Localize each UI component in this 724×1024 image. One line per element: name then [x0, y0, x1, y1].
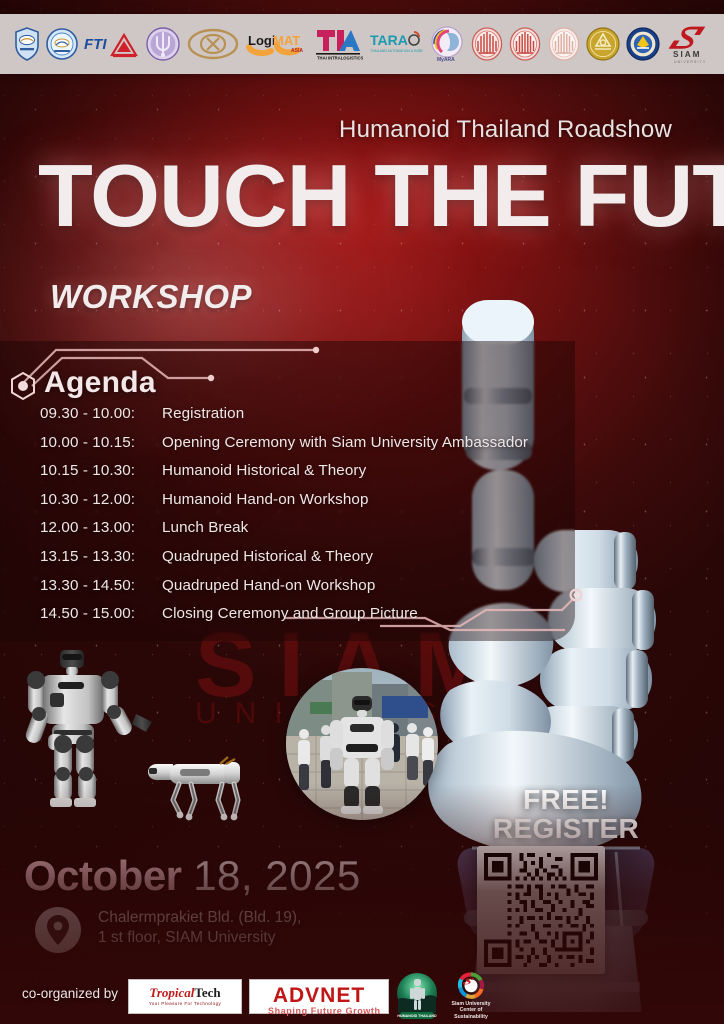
agenda-time: 10.30 - 12.00: [40, 491, 162, 508]
humanoid-thailand-caption: HUMANOID THAILAND [397, 1014, 437, 1018]
svg-text:THAILAND AUTOMATION & ROBOTICS: THAILAND AUTOMATION & ROBOTICS ASSOCIATI… [370, 49, 423, 53]
thai-university-seal-2 [509, 27, 541, 61]
svg-text:Logi: Logi [248, 33, 275, 48]
poster-kicker: Humanoid Thailand Roadshow [339, 116, 672, 144]
agenda-time: 13.15 - 13.30: [40, 548, 162, 565]
co-organizer-footer: co-organized by TropicalTech Your Pleasu… [0, 968, 724, 1024]
agenda-item-title: Quadruped Historical & Theory [162, 548, 373, 565]
svg-text:MyARA: MyARA [437, 57, 455, 63]
agenda-item-title: Humanoid Hand-on Workshop [162, 491, 369, 508]
siam-logo-subtext: UNIVERSITY [674, 60, 706, 64]
thai-university-seal-3 [548, 27, 580, 61]
siam-sustainability-caption: Siam UniversityCenter of Sustainability [445, 1001, 497, 1021]
agenda-row: 13.15 - 13.30: Quadruped Historical & Th… [40, 548, 600, 565]
agenda-list: 09.30 - 10.00: Registration 10.00 - 10.1… [40, 405, 600, 634]
svg-text:THAI INTRALOGISTICS: THAI INTRALOGISTICS [317, 56, 363, 61]
agenda-hex-node-icon [8, 371, 38, 401]
fti-logo: FTI [84, 29, 140, 59]
svg-text:TARA: TARA [370, 32, 408, 48]
agenda-time: 12.00 - 13.00: [40, 519, 162, 536]
agenda-item-title: Quadruped Hand-on Workshop [162, 577, 375, 594]
tia-logo: THAI INTRALOGISTICS [313, 26, 363, 62]
co-organized-label: co-organized by [22, 986, 118, 1001]
agenda-item-title: Registration [162, 405, 244, 422]
svg-text:MAT: MAT [273, 33, 300, 48]
poster-subtitle: WORKSHOP [50, 278, 252, 316]
agenda-time: 13.30 - 14.50: [40, 577, 162, 594]
agenda-row: 09.30 - 10.00: Registration [40, 405, 600, 422]
myara-logo: MyARA [429, 25, 465, 63]
fti-logo-text: FTI [84, 36, 107, 53]
agenda-time: 09.30 - 10.00: [40, 405, 162, 422]
agenda-time: 10.00 - 10.15: [40, 434, 162, 451]
tara-logo: TARA THAILAND AUTOMATION & ROBOTICS ASSO… [369, 29, 423, 59]
agenda-item-title: Opening Ceremony with Siam University Am… [162, 434, 528, 451]
agenda-item-title: Humanoid Historical & Theory [162, 462, 366, 479]
agenda-row: 10.30 - 12.00: Humanoid Hand-on Workshop [40, 491, 600, 508]
tropicaltech-word-b: Tech [194, 985, 220, 1000]
thai-university-seal-1 [471, 27, 503, 61]
agenda-row: 10.15 - 10.30: Humanoid Historical & The… [40, 462, 600, 479]
tropicaltech-word-a: Tropical [149, 985, 194, 1000]
tropicaltech-tagline: Your Pleasure For Technology [149, 1001, 222, 1006]
blue-university-seal [626, 27, 660, 61]
logimat-asia-logo: Logi MAT ASIA [245, 28, 307, 60]
purple-trident-emblem-logo [146, 27, 180, 61]
svg-text:ASIA: ASIA [291, 48, 303, 54]
shield-emblem-logo [14, 27, 40, 61]
advnet-wordmark: ADVNET [273, 984, 365, 1008]
agenda-item-title: Closing Ceremony and Group Picture [162, 605, 418, 622]
humanoid-thailand-logo: HUMANOID THAILAND [396, 973, 438, 1019]
agenda-time: 14.50 - 15.00: [40, 605, 162, 622]
agenda-row: 10.00 - 10.15: Opening Ceremony with Sia… [40, 434, 600, 451]
circular-blue-emblem-logo [46, 28, 78, 60]
siam-university-logo: SIAM UNIVERSITY [666, 23, 710, 65]
agenda-row: 14.50 - 15.00: Closing Ceremony and Grou… [40, 605, 600, 622]
poster-canvas: SIAM UNIVERSITY FTI [0, 0, 724, 1024]
agenda-heading: Agenda [44, 366, 156, 400]
agenda-time: 10.15 - 10.30: [40, 462, 162, 479]
agenda-row: 12.00 - 13.00: Lunch Break [40, 519, 600, 536]
gold-knot-emblem-logo [187, 28, 239, 60]
siam-logo-text: SIAM [673, 50, 701, 59]
advnet-tagline: Shaping Future Growth [268, 1006, 381, 1016]
partner-logo-strip: FTI Logi MAT ASIA [0, 14, 724, 74]
tropicaltech-logo: TropicalTech Your Pleasure For Technolog… [128, 979, 242, 1014]
gold-university-seal [586, 27, 620, 61]
poster-title: TOUCH THE FUTURE [38, 155, 711, 238]
siam-sustainability-logo: Siam UniversityCenter of Sustainability [445, 972, 497, 1020]
agenda-item-title: Lunch Break [162, 519, 248, 536]
agenda-row: 13.30 - 14.50: Quadruped Hand-on Worksho… [40, 577, 600, 594]
